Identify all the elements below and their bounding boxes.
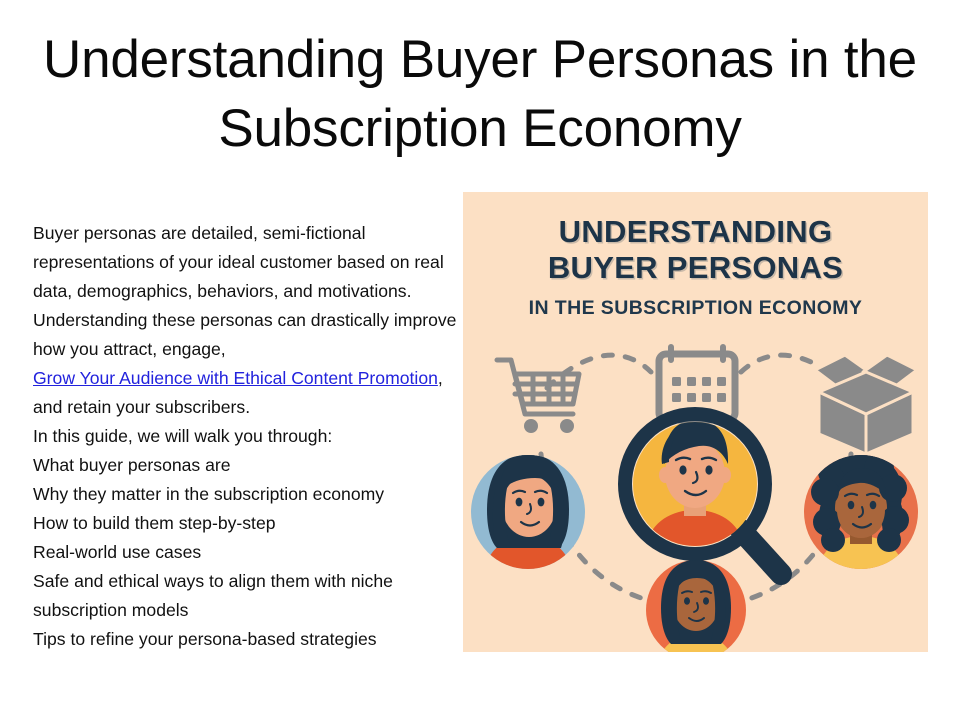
- open-box-icon: [815, 355, 917, 454]
- avatar-woman-left: [471, 454, 585, 582]
- list-item: How to build them step-by-step: [33, 509, 473, 538]
- list-item: What buyer personas are: [33, 451, 473, 480]
- intro-paragraph-text: Buyer personas are detailed, semi-fictio…: [33, 223, 456, 359]
- infographic-artwork: [463, 192, 928, 652]
- infographic-image: UNDERSTANDING BUYER PERSONAS IN THE SUBS…: [463, 192, 928, 652]
- avatar-woman-right: [804, 446, 918, 582]
- list-item: Tips to refine your persona-based strate…: [33, 625, 473, 654]
- inline-link-grow-your-audience[interactable]: Grow Your Audience with Ethical Content …: [33, 364, 438, 393]
- page-title: Understanding Buyer Personas in the Subs…: [40, 26, 920, 164]
- magnifying-glass-icon: [625, 414, 781, 574]
- guide-intro-line: In this guide, we will walk you through:: [33, 422, 473, 451]
- list-item: Safe and ethical ways to align them with…: [33, 567, 473, 625]
- list-item: Why they matter in the subscription econ…: [33, 480, 473, 509]
- avatar-woman-bottom: [646, 560, 746, 652]
- list-item: Real-world use cases: [33, 538, 473, 567]
- intro-paragraph: Buyer personas are detailed, semi-fictio…: [33, 219, 473, 422]
- content-text-column: Buyer personas are detailed, semi-fictio…: [33, 219, 473, 654]
